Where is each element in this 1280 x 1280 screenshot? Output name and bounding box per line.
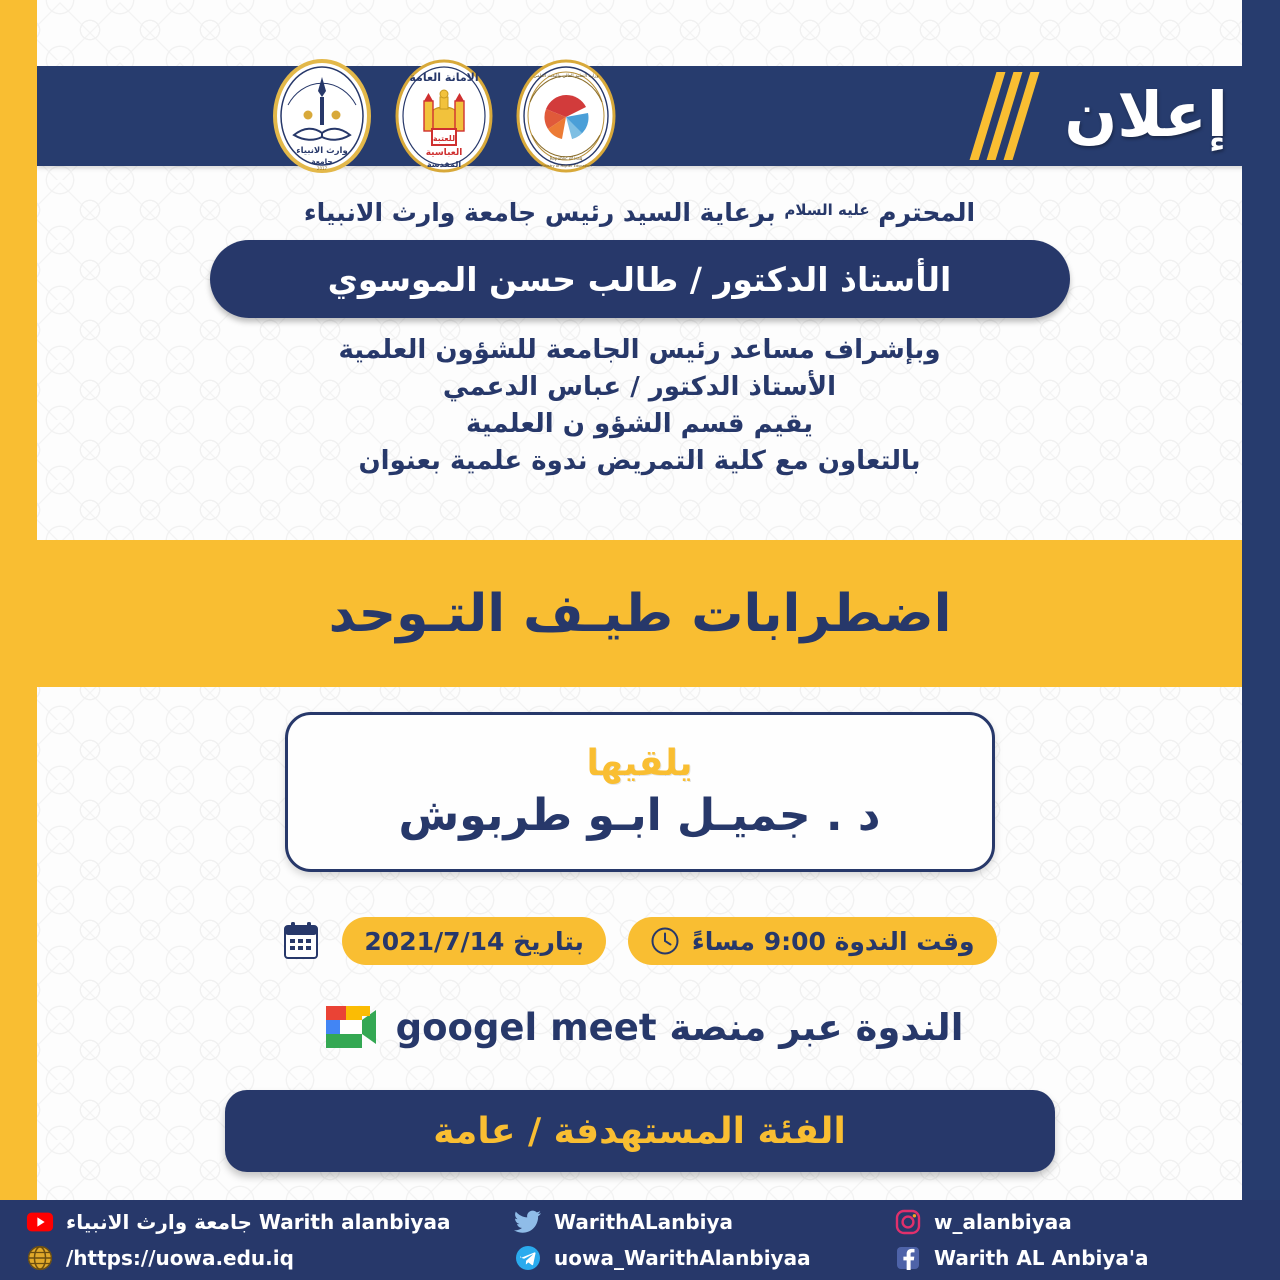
- speaker-label: يلقيها: [586, 743, 692, 784]
- platform-prefix: الندوة عبر منصة: [669, 1006, 963, 1049]
- supervision-line-2: الأستاذ الدكتور / عباس الدعمي: [37, 369, 1242, 406]
- telegram-handle: uowa_WarithAlanbiyaa: [554, 1246, 811, 1270]
- ministry-higher-education-logo: وزارة التعليم العالي والبحث العلمي Repub…: [512, 57, 620, 175]
- seminar-title-band: اضطرابات طيـف التـوحد: [0, 540, 1280, 687]
- platform-row: الندوة عبر منصة googel meet: [37, 1000, 1242, 1054]
- right-accent-bar: [1242, 0, 1280, 1280]
- speaker-name: د . جميـل ابـو طربوش: [399, 790, 881, 841]
- supervision-line-4: بالتعاون مع كلية التمريض ندوة علمية بعنو…: [37, 443, 1242, 480]
- google-meet-icon: [316, 1000, 382, 1054]
- speaker-box: يلقيها د . جميـل ابـو طربوش: [285, 712, 995, 872]
- svg-text:المقدسة: المقدسة: [426, 160, 460, 169]
- target-audience-bar: الفئة المستهدفة / عامة: [225, 1090, 1055, 1172]
- telegram-icon: [514, 1244, 542, 1272]
- telegram-account[interactable]: uowa_WarithAlanbiyaa: [514, 1244, 894, 1272]
- instagram-handle: w_alanbiyaa: [934, 1210, 1072, 1234]
- poster-content: المحترم عليه السلام برعاية السيد رئيس جا…: [37, 172, 1242, 1200]
- calendar-icon: [282, 921, 320, 961]
- svg-text:Republic of Iraq: Republic of Iraq: [549, 156, 582, 161]
- date-text: بتاريخ 2021/7/14: [364, 927, 584, 956]
- meta-row: وقت الندوة 9:00 مساءً بتاريخ 2021/7/14: [37, 917, 1242, 965]
- poster-header: إعلان: [37, 66, 1280, 166]
- website-icon: [26, 1244, 54, 1272]
- patron-suffix: المحترم: [878, 198, 975, 227]
- facebook-account[interactable]: Warith AL Anbiya'a: [894, 1244, 1254, 1272]
- time-text: وقت الندوة 9:00 مساءً: [692, 927, 975, 956]
- logo-group: وزارة التعليم العالي والبحث العلمي Repub…: [37, 52, 1280, 180]
- platform-name: googel meet: [396, 1006, 657, 1049]
- clock-icon: [650, 926, 680, 956]
- footer-column-2: WarithALanbiya uowa_WarithAlanbiyaa: [514, 1208, 894, 1272]
- date-pill: بتاريخ 2021/7/14: [342, 917, 606, 965]
- facebook-icon: [894, 1244, 922, 1272]
- twitter-icon: [514, 1208, 542, 1236]
- svg-text:وزارة التعليم العالي والبحث ال: وزارة التعليم العالي والبحث العلمي: [533, 74, 598, 79]
- time-pill: وقت الندوة 9:00 مساءً: [628, 917, 997, 965]
- website-account[interactable]: /https://uowa.edu.iq: [26, 1244, 514, 1272]
- seminar-title: اضطرابات طيـف التـوحد: [329, 584, 952, 644]
- youtube-account[interactable]: Warith alanbiyaa جامعة وارث الانبياء: [26, 1208, 514, 1236]
- facebook-handle: Warith AL Anbiya'a: [934, 1246, 1149, 1270]
- instagram-icon: [894, 1208, 922, 1236]
- youtube-icon: [26, 1208, 54, 1236]
- patron-line: المحترم عليه السلام برعاية السيد رئيس جا…: [37, 198, 1242, 228]
- patron-prefix: برعاية السيد رئيس جامعة وارث الانبياء: [304, 198, 776, 227]
- social-footer: w_alanbiyaa Warith AL Anbiya'a: [0, 1200, 1280, 1280]
- patron-name-box: الأستاذ الدكتور / طالب حسن الموسوي: [210, 240, 1070, 318]
- svg-text:العباسية: العباسية: [425, 148, 462, 158]
- supervision-line-3: يقيم قسم الشؤو ن العلمية: [37, 406, 1242, 443]
- svg-text:Ministry of Higher Education: Ministry of Higher Education: [540, 164, 591, 168]
- twitter-account[interactable]: WarithALanbiya: [514, 1208, 894, 1236]
- target-audience-text: الفئة المستهدفة / عامة: [433, 1111, 846, 1152]
- pbuh-mark: عليه السلام: [784, 201, 869, 219]
- youtube-handle: Warith alanbiyaa جامعة وارث الانبياء: [66, 1210, 450, 1234]
- svg-text:وارث الانبياء: وارث الانبياء: [296, 146, 348, 156]
- svg-text:2017: 2017: [316, 166, 327, 171]
- platform-text: الندوة عبر منصة googel meet: [396, 1006, 964, 1049]
- svg-text:للعتبة: للعتبة: [432, 134, 454, 143]
- website-url: /https://uowa.edu.iq: [66, 1246, 294, 1270]
- patron-name: الأستاذ الدكتور / طالب حسن الموسوي: [328, 260, 952, 299]
- supervision-paragraph: وبإشراف مساعد رئيس الجامعة للشؤون العلمي…: [37, 332, 1242, 480]
- announcement-poster: إعلان: [0, 0, 1280, 1280]
- twitter-handle: WarithALanbiya: [554, 1210, 733, 1234]
- al-abbas-holy-shrine-logo: الامانة العامة للعتبة العباسية الم: [390, 57, 498, 175]
- footer-column-1: w_alanbiyaa Warith AL Anbiya'a: [894, 1208, 1254, 1272]
- left-accent-bar: [0, 0, 37, 1280]
- svg-text:الامانة العامة: الامانة العامة: [409, 71, 478, 84]
- supervision-line-1: وبإشراف مساعد رئيس الجامعة للشؤون العلمي…: [37, 332, 1242, 369]
- instagram-account[interactable]: w_alanbiyaa: [894, 1208, 1254, 1236]
- svg-text:جامعة: جامعة: [311, 157, 333, 166]
- university-warith-alanbiya-logo: وارث الانبياء جامعة 2017: [268, 57, 376, 175]
- footer-column-3: Warith alanbiyaa جامعة وارث الانبياء /ht…: [26, 1208, 514, 1272]
